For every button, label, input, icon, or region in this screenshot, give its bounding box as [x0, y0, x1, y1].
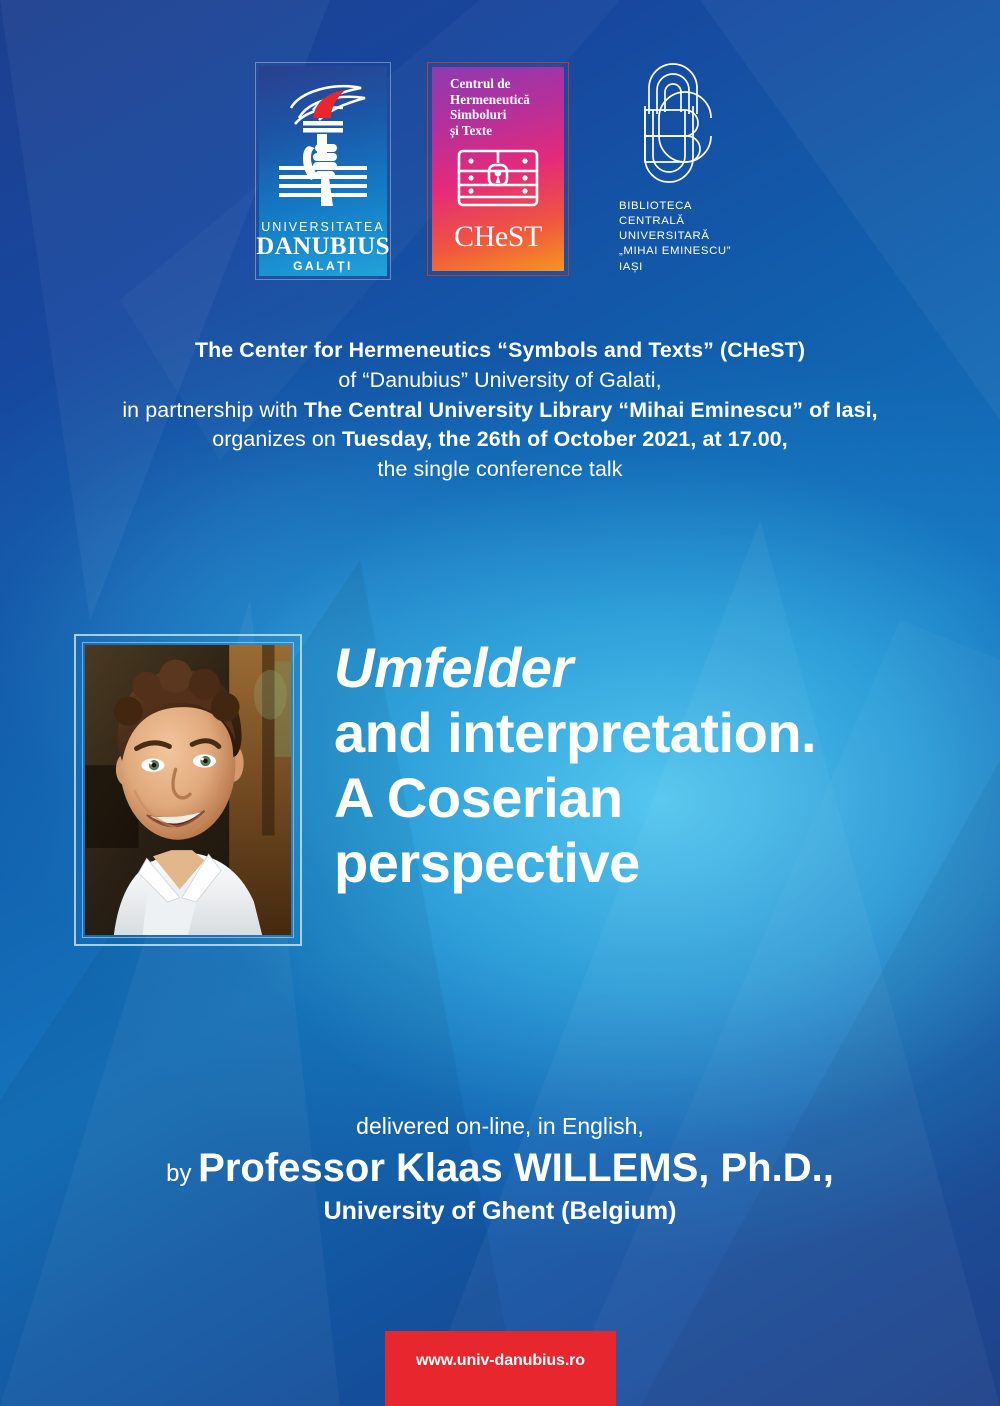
speaker-affiliation: University of Ghent (Belgium) [0, 1195, 1000, 1228]
bcu-text-block: BIBLIOTECA CENTRALĂ UNIVERSITARĂ „MIHAI … [619, 199, 731, 275]
title-line-1: Umfelder [334, 636, 954, 701]
title-line-2: and interpretation. [334, 701, 954, 766]
universitatea-danubius-galati-logo: UNIVERSITATEA DANUBIUS GALAȚI [255, 62, 391, 280]
title-line-4: perspective [334, 831, 954, 896]
title-line-3: A Coserian [334, 766, 954, 831]
intro-line-4-prefix: organizes on [212, 427, 342, 451]
intro-line-2: of “Danubius” University of Galati, [0, 366, 1000, 396]
bcu-line-3: UNIVERSITARĂ [619, 229, 731, 244]
bcu-line-4: „MIHAI EMINESCU” [619, 244, 731, 259]
chest-title-line-3: Simboluri [450, 107, 546, 123]
torch-in-hand-icon [269, 74, 377, 219]
chest-title-line-4: și Texte [450, 123, 546, 139]
chest-title-line-2: Hermeneutică [450, 92, 546, 108]
speaker-block: delivered on-line, in English, by Profes… [0, 1112, 1000, 1227]
intro-line-4-bold: Tuesday, the 26th of October 2021, at 17… [342, 427, 788, 451]
speaker-by-prefix: by [166, 1160, 198, 1187]
website-footer-bar[interactable]: www.univ-danubius.ro [385, 1331, 616, 1406]
bcu-line-1: BIBLIOTECA [619, 199, 731, 214]
chest-title-text: Centrul de Hermeneutică Simboluri și Tex… [450, 76, 546, 138]
talk-title: Umfelder and interpretation. A Coserian … [334, 636, 954, 896]
website-url[interactable]: www.univ-danubius.ro [416, 1352, 585, 1370]
speaker-name: Professor Klaas WILLEMS, Ph.D., [198, 1146, 834, 1190]
delivery-mode-line: delivered on-line, in English, [0, 1112, 1000, 1142]
bcu-line-2: CENTRALĂ [619, 214, 731, 229]
intro-line-5: the single conference talk [0, 455, 1000, 485]
event-intro-paragraph: The Center for Hermeneutics “Symbols and… [0, 336, 1000, 485]
poster-canvas: UNIVERSITATEA DANUBIUS GALAȚI Centrul de… [0, 0, 1000, 1406]
danubius-line1: UNIVERSITATEA [256, 221, 390, 234]
logo-strip: UNIVERSITATEA DANUBIUS GALAȚI Centrul de… [0, 62, 1000, 284]
danubius-line2: DANUBIUS [256, 234, 390, 259]
intro-line-3-prefix: in partnership with [122, 398, 304, 422]
intro-line-1: The Center for Hermeneutics “Symbols and… [195, 338, 805, 362]
chest-title-line-1: Centrul de [450, 76, 546, 92]
speaker-portrait-photo [85, 645, 291, 935]
biblioteca-centrala-universitara-logo: BIBLIOTECA CENTRALĂ UNIVERSITARĂ „MIHAI … [605, 62, 745, 280]
treasure-chest-icon [455, 138, 541, 216]
speaker-photo-frame [74, 634, 302, 946]
intro-line-3-bold: The Central University Library “Mihai Em… [304, 398, 878, 422]
bcu-line-5: IAȘI [619, 260, 731, 275]
bcu-monogram-icon [605, 62, 727, 193]
chest-logo: Centrul de Hermeneutică Simboluri și Tex… [427, 62, 569, 276]
chest-wordmark: CHeST [454, 220, 542, 254]
danubius-line3: GALAȚI [256, 260, 390, 272]
